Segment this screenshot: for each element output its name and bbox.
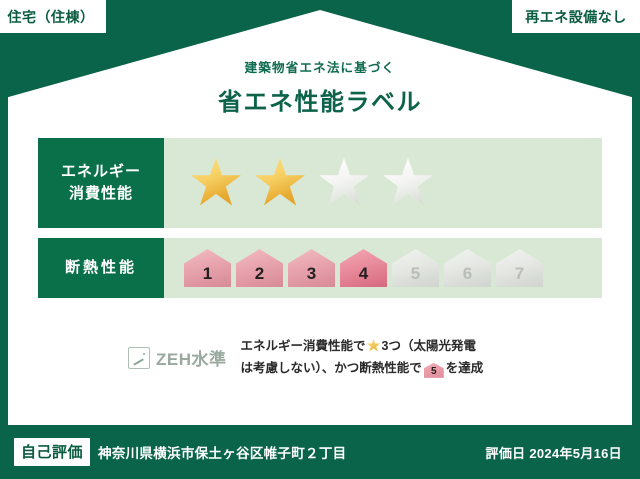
insulation-performance-value: 1234567 [164, 238, 602, 298]
star-filled-icon [254, 158, 306, 208]
energy-performance-value [164, 138, 602, 228]
zeh-description-line2: は考慮しない）、かつ断熱性能で5を達成 [241, 358, 484, 380]
property-address: 神奈川県横浜市保土ヶ谷区帷子町２丁目 [98, 442, 346, 462]
energy-performance-label: エネルギー 消費性能 [38, 138, 164, 228]
zeh-badge-label: ZEH水準 [156, 345, 227, 370]
insulation-performance-row: 断熱性能 1234567 [38, 238, 602, 298]
zeh-checkbox-icon [128, 347, 150, 369]
tab-building-type[interactable]: 住宅（住棟） [0, 0, 106, 33]
zeh-desc-line2-pre: は考慮しない）、かつ断熱性能で [241, 361, 422, 375]
inline-grade-badge: 5 [424, 363, 444, 378]
title-block: 建築物省エネ法に基づく 省エネ性能ラベル [0, 57, 640, 117]
grade-badge-3: 3 [288, 249, 335, 287]
insulation-performance-label: 断熱性能 [38, 238, 164, 298]
evaluation-date-value: 2024年5月16日 [529, 446, 622, 461]
grade-badge-7: 7 [496, 249, 543, 287]
grade-scale: 1234567 [184, 249, 543, 287]
star-icon [367, 339, 381, 352]
zeh-desc-line1-post: 3つ（太陽光発電 [382, 339, 476, 353]
evaluation-date-label: 評価日 [486, 446, 526, 461]
evaluation-date: 評価日 2024年5月16日 [486, 443, 622, 462]
zeh-description-line1: エネルギー消費性能で3つ（太陽光発電 [241, 336, 484, 358]
grade-badge-2: 2 [236, 249, 283, 287]
star-rating [190, 158, 434, 208]
self-evaluation-badge: 自己評価 [14, 438, 90, 466]
label-title: 省エネ性能ラベル [0, 82, 640, 117]
star-empty-icon [318, 158, 370, 208]
zeh-description: エネルギー消費性能で3つ（太陽光発電 は考慮しない）、かつ断熱性能で5を達成 [241, 336, 484, 380]
zeh-desc-line1-pre: エネルギー消費性能で [241, 339, 366, 353]
tab-renewable-energy[interactable]: 再エネ設備なし [512, 0, 640, 33]
energy-label-line1: エネルギー [61, 161, 141, 183]
zeh-standard-row: ZEH水準 エネルギー消費性能で3つ（太陽光発電 は考慮しない）、かつ断熱性能で… [128, 336, 483, 380]
zeh-desc-line2-post: を達成 [446, 361, 484, 375]
energy-performance-label: 住宅（住棟） 再エネ設備なし 建築物省エネ法に基づく 省エネ性能ラベル ハウスド… [0, 0, 640, 479]
energy-performance-row: エネルギー 消費性能 [38, 138, 602, 228]
footer: 自己評価 神奈川県横浜市保土ヶ谷区帷子町２丁目 評価日 2024年5月16日 [0, 425, 640, 479]
star-filled-icon [190, 158, 242, 208]
grade-badge-1: 1 [184, 249, 231, 287]
label-subtitle: 建築物省エネ法に基づく [0, 57, 640, 76]
grade-badge-5: 5 [392, 249, 439, 287]
zeh-badge: ZEH水準 [128, 336, 227, 370]
grade-badge-4: 4 [340, 249, 387, 287]
star-empty-icon [382, 158, 434, 208]
grade-badge-6: 6 [444, 249, 491, 287]
energy-label-line2: 消費性能 [69, 183, 133, 205]
